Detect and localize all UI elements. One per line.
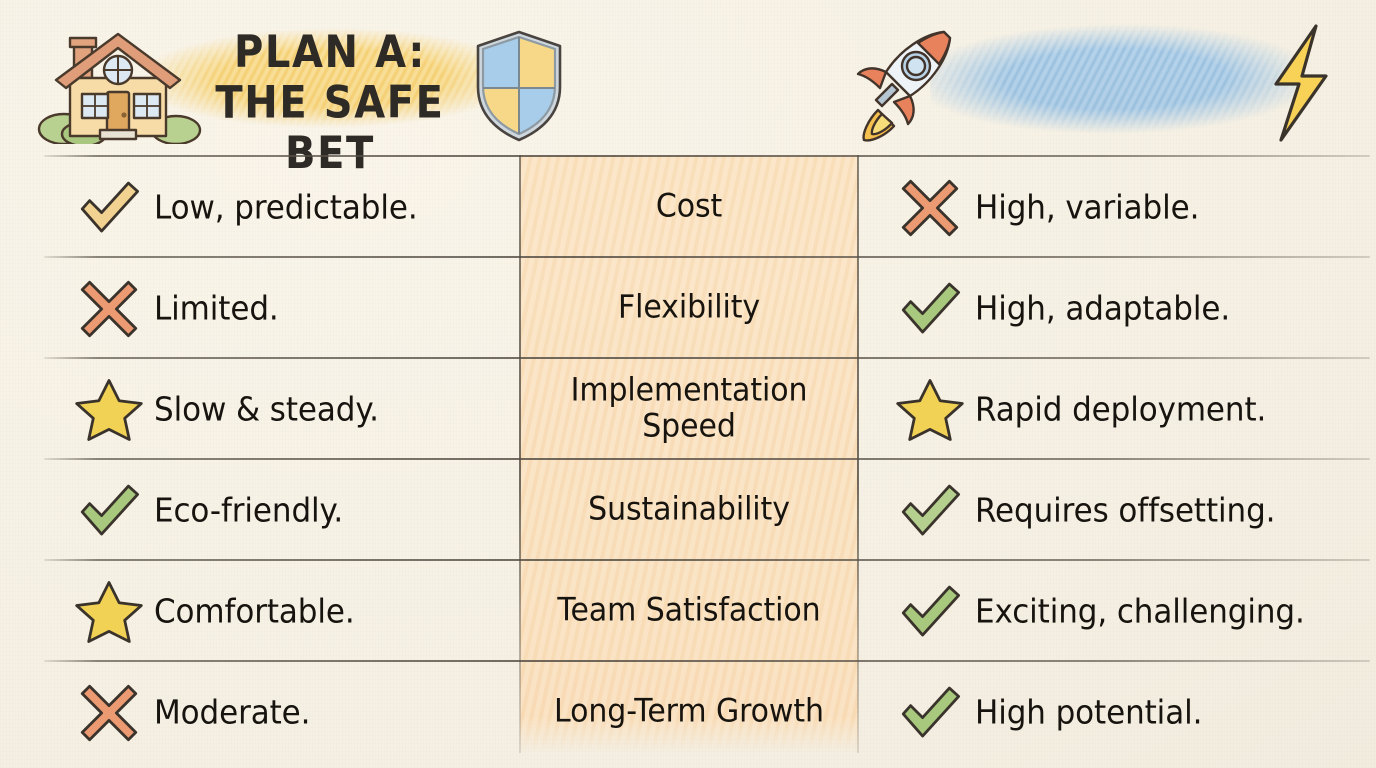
cross-icon [70, 270, 148, 348]
plan-a-cell: Moderate. [0, 662, 519, 763]
check-icon [70, 472, 148, 550]
check-icon [891, 573, 969, 651]
plan-b-cell-text: High, adaptable. [975, 289, 1230, 327]
plan-a-cell-text: Low, predictable. [154, 188, 418, 226]
plan-a-cell: Limited. [0, 258, 519, 359]
plan-b-cell: High, variable. [859, 157, 1376, 258]
plan-a-cell: Low, predictable. [0, 157, 519, 258]
plan-a-cell-text: Moderate. [154, 693, 310, 731]
criterion-cell: Cost [521, 157, 857, 258]
criterion-cell: Team Satisfaction [521, 561, 857, 662]
plan-a-cell-text: Limited. [154, 289, 279, 327]
table-row: Eco-friendly. Sustainability Requires of… [0, 460, 1376, 561]
criterion-cell: Implementation Speed [521, 359, 857, 460]
table-row: Limited. Flexibility High, adaptable. [0, 258, 1376, 359]
check-icon [891, 270, 969, 348]
plan-a-cell-text: Slow & steady. [154, 390, 379, 428]
table-row: Comfortable. Team Satisfaction Exciting,… [0, 561, 1376, 662]
star-icon [891, 371, 969, 449]
plan-b-cell-text: Requires offsetting. [975, 491, 1275, 529]
plan-b-header: PLAN B: THE BOLD MOVE [820, 0, 1376, 155]
check-icon [891, 472, 969, 550]
criterion-label: Long-Term Growth [554, 694, 824, 730]
criterion-cell: Sustainability [521, 460, 857, 561]
plan-b-cell-text: Rapid deployment. [975, 390, 1266, 428]
criterion-label: Cost [656, 189, 722, 225]
chart-header: PLAN A: THE SAFE BET [0, 0, 1376, 155]
cross-icon [891, 169, 969, 247]
plan-a-cell-text: Comfortable. [154, 592, 355, 630]
plan-b-cell: High potential. [859, 662, 1376, 763]
check-icon [70, 169, 148, 247]
table-row: Slow & steady. Implementation Speed Rapi… [0, 359, 1376, 460]
criterion-label: Sustainability [588, 492, 790, 528]
star-icon [70, 371, 148, 449]
plan-b-cell-text: Exciting, challenging. [975, 592, 1305, 630]
plan-b-cell: Rapid deployment. [859, 359, 1376, 460]
comparison-chart: PLAN A: THE SAFE BET [0, 0, 1376, 768]
plan-a-cell: Eco-friendly. [0, 460, 519, 561]
plan-a-cell: Comfortable. [0, 561, 519, 662]
criterion-label: Flexibility [618, 290, 760, 326]
star-icon [70, 573, 148, 651]
comparison-table: Low, predictable. Cost High, variable. [0, 155, 1376, 768]
plan-a-cell: Slow & steady. [0, 359, 519, 460]
table-row: Moderate. Long-Term Growth High potentia… [0, 662, 1376, 763]
plan-b-cell: Exciting, challenging. [859, 561, 1376, 662]
plan-a-header: PLAN A: THE SAFE BET [0, 0, 600, 155]
criterion-cell: Long-Term Growth [521, 662, 857, 763]
criterion-label: Team Satisfaction [557, 593, 820, 629]
criterion-label: Implementation Speed [571, 373, 808, 445]
plan-b-cell: Requires offsetting. [859, 460, 1376, 561]
check-icon [891, 674, 969, 752]
plan-b-cell-text: High, variable. [975, 188, 1199, 226]
cross-icon [70, 674, 148, 752]
plan-b-cell: High, adaptable. [859, 258, 1376, 359]
table-row: Low, predictable. Cost High, variable. [0, 157, 1376, 258]
criterion-cell: Flexibility [521, 258, 857, 359]
plan-b-cell-text: High potential. [975, 693, 1202, 731]
plan-a-cell-text: Eco-friendly. [154, 491, 343, 529]
